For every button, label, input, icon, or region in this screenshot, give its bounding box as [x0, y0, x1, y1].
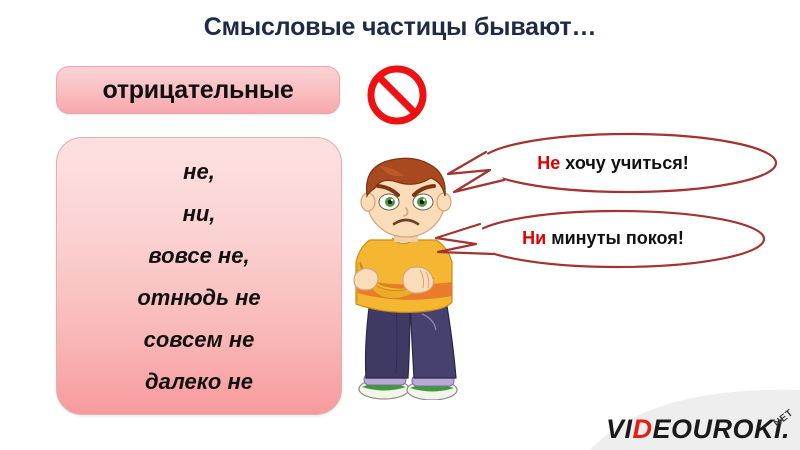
- particles-list-panel: не, ни, вовсе не, отнюдь не совсем не да…: [56, 137, 342, 415]
- logo-text-part2: EOUROKI.: [653, 414, 791, 444]
- category-pill-label: отрицательные: [103, 76, 294, 105]
- list-item: совсем не: [144, 329, 255, 351]
- page-title: Смысловые частицы бывают…: [0, 13, 800, 42]
- speech-bubble-text: Не хочу учиться!: [458, 153, 768, 174]
- speech-bubble-ni: Ни минуты покоя!: [432, 204, 768, 274]
- category-pill-otricatelnye[interactable]: отрицательные: [56, 66, 340, 114]
- logo-text-accent: D: [633, 414, 653, 444]
- speech-rest: минуты покоя!: [546, 228, 684, 248]
- keyword-ne: Не: [537, 153, 560, 173]
- list-item: вовсе не,: [148, 245, 249, 267]
- list-item: ни,: [183, 203, 216, 225]
- no-entry-icon: [366, 64, 428, 126]
- speech-bubble-text: Ни минуты покоя!: [448, 228, 758, 249]
- videouroki-logo[interactable]: VIDEOUROKI.NET: [606, 414, 790, 442]
- speech-bubble-ne: Не хочу учиться!: [446, 130, 782, 200]
- list-item: далеко не: [145, 371, 253, 393]
- list-item: не,: [183, 161, 215, 183]
- logo-text-part1: VI: [606, 414, 633, 444]
- slide-canvas: Смысловые частицы бывают… отрицательные …: [0, 0, 800, 450]
- keyword-ni: Ни: [522, 228, 546, 248]
- list-item: отнюдь не: [137, 287, 260, 309]
- speech-rest: хочу учиться!: [560, 153, 689, 173]
